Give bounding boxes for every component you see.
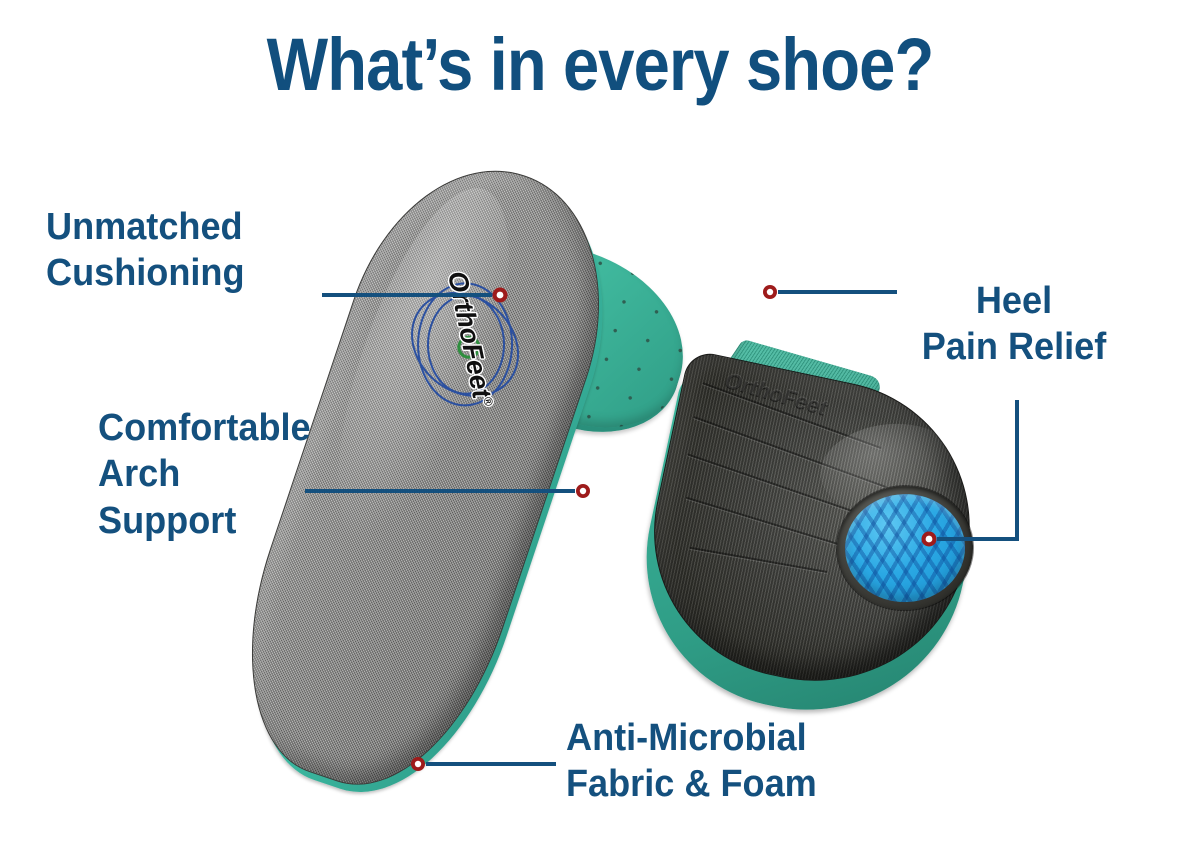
underside-emboss-text: OrthoFeet: [722, 367, 830, 421]
callout-label-unmatched-cushioning: Unmatched Cushioning: [46, 204, 245, 297]
callout-label-heel-pain-relief: Heel Pain Relief: [891, 278, 1138, 371]
callout-label-comfortable-arch-support: Comfortable Arch Support: [98, 405, 311, 544]
page-title: What’s in every shoe?: [72, 22, 1128, 107]
registered-mark: ®: [480, 396, 495, 407]
callout-label-anti-microbial-fabric-foam: Anti-Microbial Fabric & Foam: [566, 715, 817, 808]
insole-bottom-view: OrthoFeet: [619, 349, 999, 738]
flex-groove: [689, 547, 827, 573]
infographic-canvas: OrthoFeet OrthoFeet®: [0, 0, 1200, 857]
